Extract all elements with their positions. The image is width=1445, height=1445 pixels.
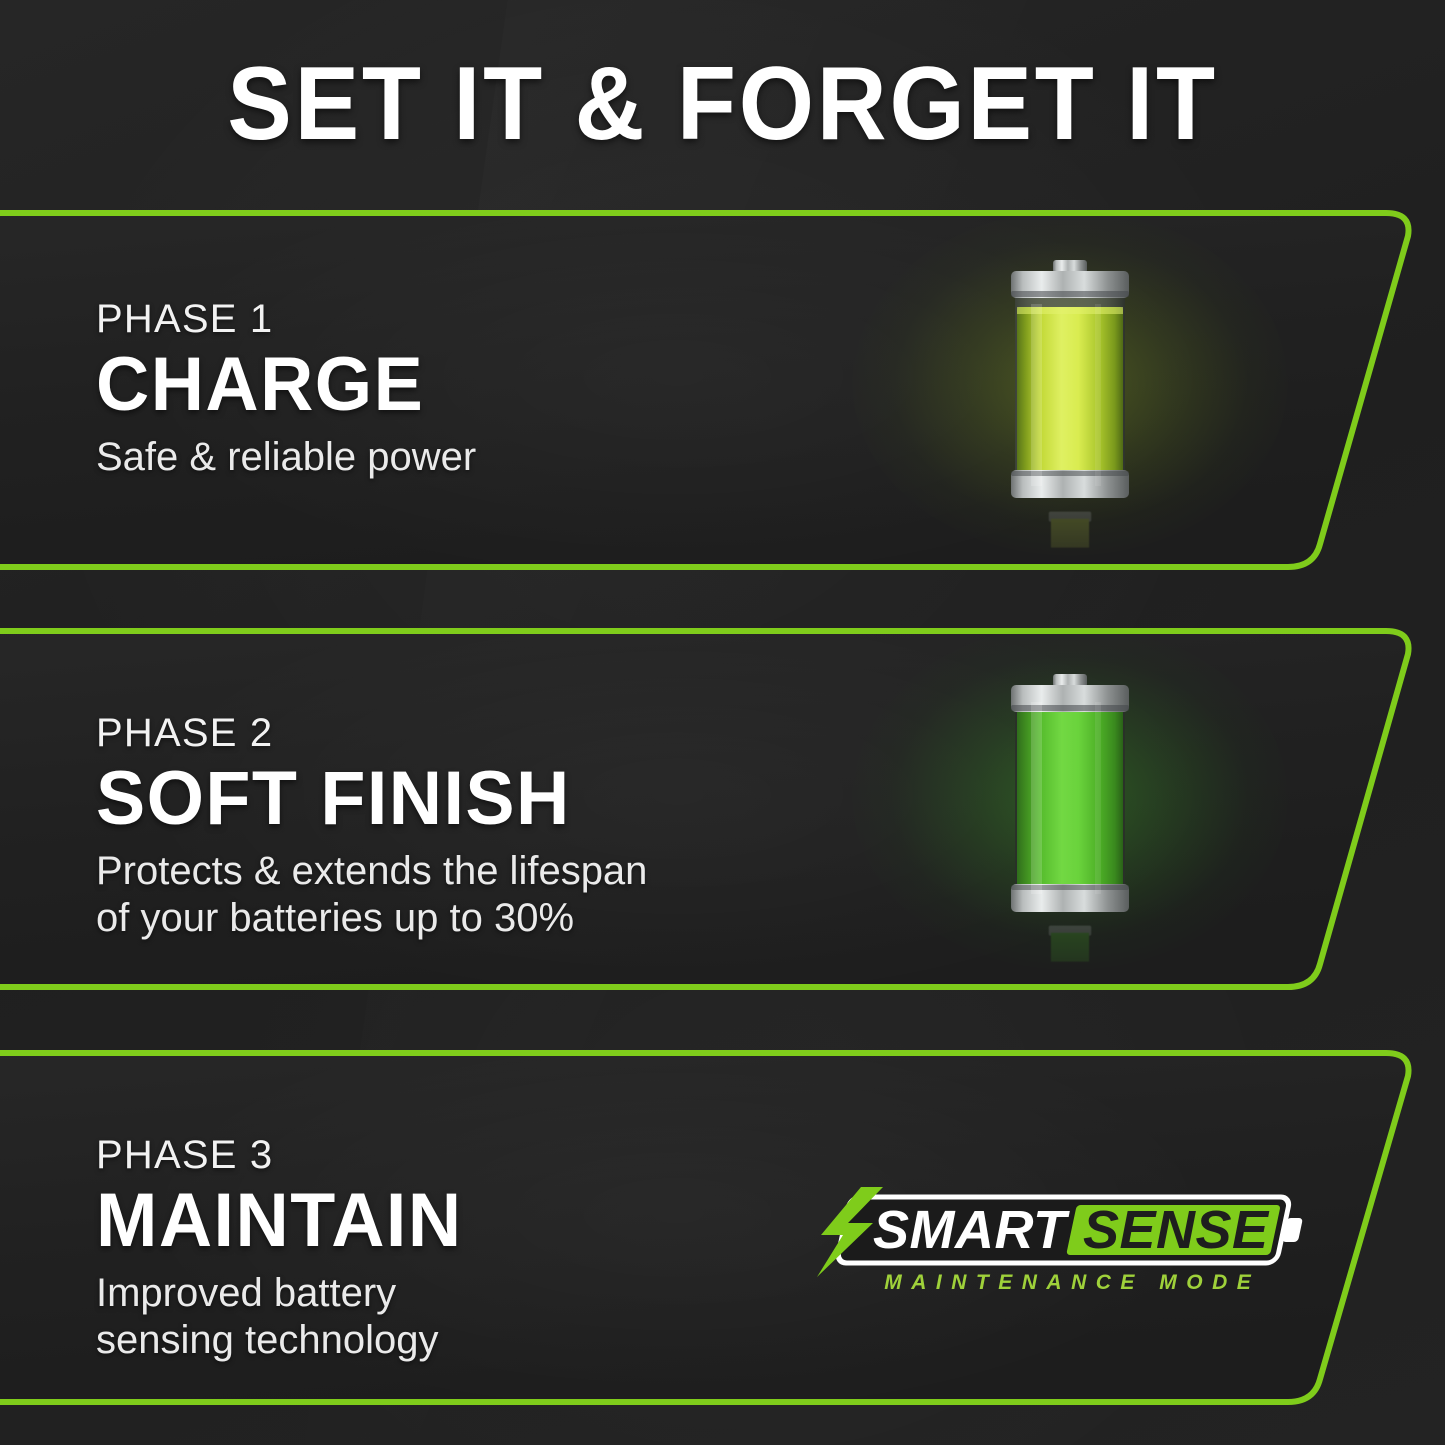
phase-2-description-line-2: of your batteries up to 30% [96,895,647,942]
phase-2-description: Protects & extends the lifespan of your … [96,848,647,942]
phase-2-label: PHASE 2 [96,712,647,754]
phase-1-description-line-1: Safe & reliable power [96,434,476,481]
phase-1-description: Safe & reliable power [96,434,476,481]
phase-1-text: PHASE 1 CHARGE Safe & reliable power [96,298,476,481]
logo-word-sense: SENSE [1083,1200,1270,1260]
smart-sense-mark: SMART SENSE [795,1185,1340,1277]
phase-3-description: Improved battery sensing technology [96,1270,474,1364]
infographic-canvas: SET IT & FORGET IT PHASE 1 CHARGE Safe &… [0,0,1445,1445]
battery-full-icon [995,672,1145,922]
smart-sense-logo: SMART SENSE MAINTENANCE MODE [795,1185,1340,1305]
phase-3-title: MAINTAIN [96,1182,463,1260]
battery-2-body [995,672,1145,922]
phase-1-title: CHARGE [96,346,465,424]
phase-3-description-line-1: Improved battery [96,1270,474,1317]
phase-2-title: SOFT FINISH [96,760,631,838]
phase-2-text: PHASE 2 SOFT FINISH Protects & extends t… [96,712,647,942]
phase-1-label: PHASE 1 [96,298,476,340]
phase-3-description-line-2: sensing technology [96,1317,474,1364]
phase-2-description-line-1: Protects & extends the lifespan [96,848,647,895]
logo-word-smart: SMART [873,1200,1070,1260]
page-title: SET IT & FORGET IT [227,52,1218,156]
logo-tagline: MAINTENANCE MODE [795,1271,1340,1295]
battery-charging-icon [995,258,1145,508]
phase-3-text: PHASE 3 MAINTAIN Improved battery sensin… [96,1134,474,1364]
phase-3-label: PHASE 3 [96,1134,474,1176]
title-container: SET IT & FORGET IT [0,52,1445,156]
battery-1-body [995,258,1145,508]
